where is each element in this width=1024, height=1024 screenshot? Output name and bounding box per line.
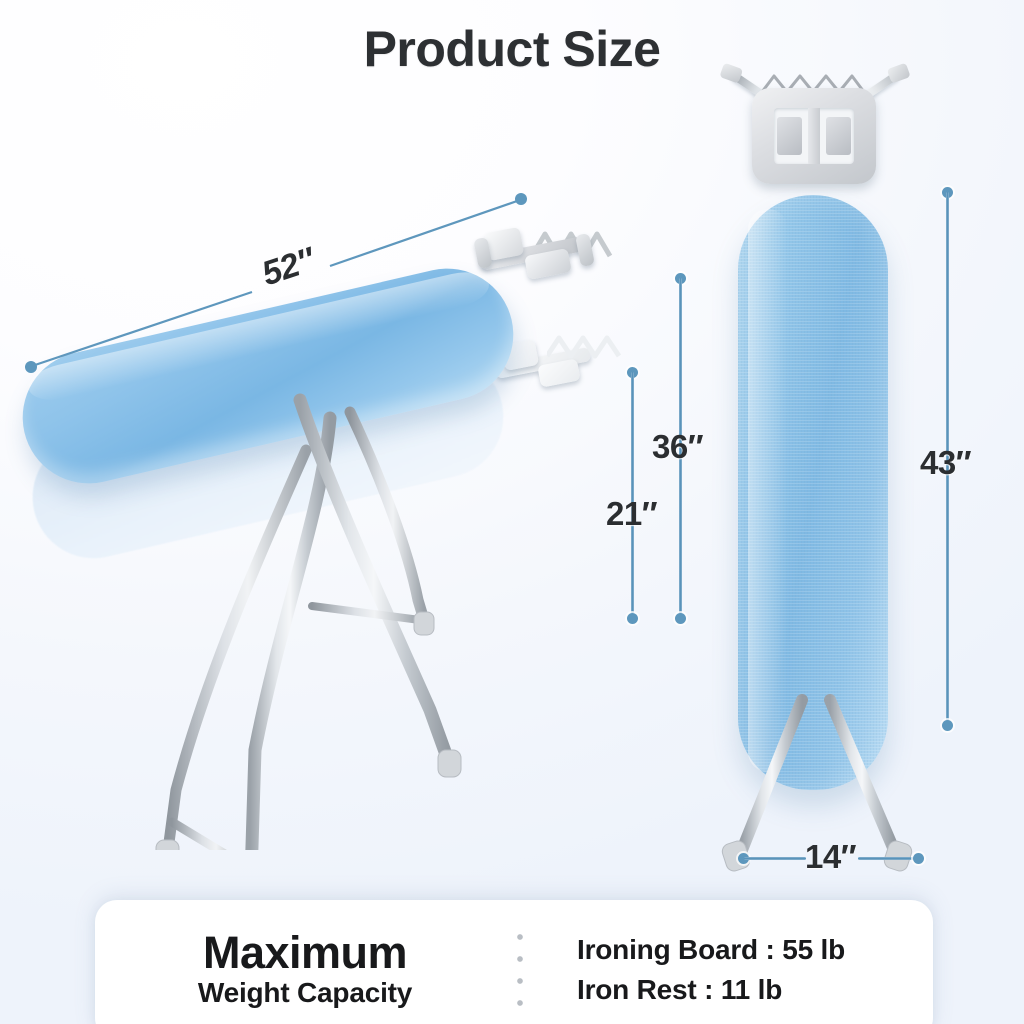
open-ironing-board [0, 150, 640, 850]
capacity-item-rest: Iron Rest : 11 lb [577, 970, 845, 1010]
dimension-line-14-a [744, 857, 806, 860]
leg-rear-right-inner [350, 412, 424, 620]
dimension-dot-21-bottom [627, 613, 638, 624]
dotted-divider [515, 926, 525, 1014]
leg-crossbar-upper [312, 606, 420, 620]
dimension-label-14: 14″ [805, 838, 856, 876]
dimension-dot-36-bottom [675, 613, 686, 624]
dimension-dot-43-bottom [942, 720, 953, 731]
leg-crossbar-lower [172, 822, 248, 850]
leg-feet [156, 612, 461, 850]
folding-leg-assembly [0, 150, 640, 850]
dimension-line-14-b [858, 857, 918, 860]
dimension-label-21: 21″ [606, 495, 657, 533]
capacity-item-board: Ironing Board : 55 lb [577, 930, 845, 970]
capacity-heading: Maximum Weight Capacity [95, 930, 505, 1010]
leg-front-left-inner [168, 450, 306, 850]
dimension-label-43: 43″ [920, 444, 971, 482]
infographic-canvas: Product Size [0, 0, 1024, 1024]
max-weight-capacity-card: Maximum Weight Capacity Ironing Board : … [95, 900, 933, 1024]
capacity-heading-line2: Weight Capacity [105, 975, 505, 1010]
capacity-values: Ironing Board : 55 lb Iron Rest : 11 lb [535, 930, 845, 1010]
dimension-dot-14-right [913, 853, 924, 864]
capacity-heading-line1: Maximum [105, 930, 505, 975]
